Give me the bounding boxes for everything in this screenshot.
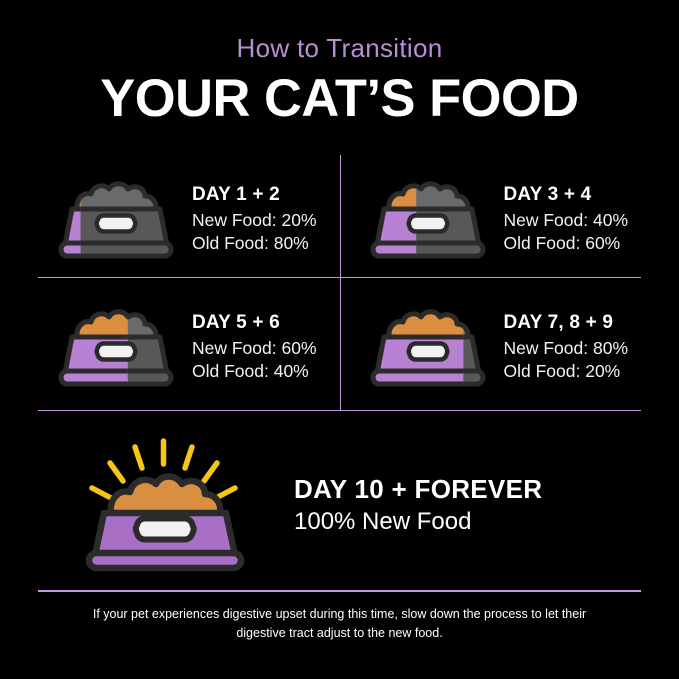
bone-emblem — [135, 518, 193, 539]
divider-footer — [38, 590, 641, 592]
old-food-line: Old Food: 60% — [504, 232, 642, 255]
day-label: DAY 1 + 2 — [192, 183, 340, 207]
page-title: YOUR CAT’S FOOD — [3, 64, 675, 128]
old-food-line: Old Food: 40% — [192, 360, 340, 383]
step-text-day-5-6: DAY 5 + 6 New Food: 60% Old Food: 40% — [180, 311, 340, 383]
cat-food-bowl-icon — [52, 175, 180, 263]
new-food-line: New Food: 40% — [504, 209, 642, 232]
old-food-line: Old Food: 80% — [192, 232, 340, 255]
bone-emblem — [408, 343, 447, 359]
cat-food-bowl-icon — [52, 303, 180, 391]
step-cell-day-7-8-9: DAY 7, 8 + 9 New Food: 80% Old Food: 20% — [340, 283, 642, 411]
step-cell-day-1-2: DAY 1 + 2 New Food: 20% Old Food: 80% — [38, 155, 340, 283]
footer: If your pet experiences digestive upset … — [78, 605, 601, 643]
finale-sub-label: 100% New Food — [294, 508, 641, 536]
finale-row: DAY 10 + FOREVER 100% New Food — [38, 432, 641, 577]
step-cell-day-5-6: DAY 5 + 6 New Food: 60% Old Food: 40% — [38, 283, 340, 411]
transition-steps-grid: DAY 1 + 2 New Food: 20% Old Food: 80% — [38, 155, 641, 411]
step-text-day-3-4: DAY 3 + 4 New Food: 40% Old Food: 60% — [492, 183, 642, 255]
footer-note: If your pet experiences digestive upset … — [78, 605, 601, 643]
cat-food-bowl-sparkle-icon — [38, 437, 288, 572]
finale-day-label: DAY 10 + FOREVER — [294, 474, 641, 505]
infographic-root: How to Transition YOUR CAT’S FOOD — [0, 0, 679, 679]
step-cell-day-3-4: DAY 3 + 4 New Food: 40% Old Food: 60% — [340, 155, 642, 283]
day-label: DAY 5 + 6 — [192, 311, 340, 335]
new-food-line: New Food: 80% — [504, 337, 642, 360]
cat-food-bowl-icon — [364, 175, 492, 263]
step-text-day-7-8-9: DAY 7, 8 + 9 New Food: 80% Old Food: 20% — [492, 311, 642, 383]
finale-text: DAY 10 + FOREVER 100% New Food — [288, 474, 641, 536]
header-eyebrow: How to Transition — [0, 0, 679, 64]
bone-emblem — [97, 343, 136, 359]
header: How to Transition YOUR CAT’S FOOD — [0, 0, 679, 128]
bone-emblem — [408, 215, 447, 231]
day-label: DAY 7, 8 + 9 — [504, 311, 642, 335]
old-food-line: Old Food: 20% — [504, 360, 642, 383]
new-food-line: New Food: 60% — [192, 337, 340, 360]
day-label: DAY 3 + 4 — [504, 183, 642, 207]
cat-food-bowl-icon — [364, 303, 492, 391]
new-food-line: New Food: 20% — [192, 209, 340, 232]
step-text-day-1-2: DAY 1 + 2 New Food: 20% Old Food: 80% — [180, 183, 340, 255]
